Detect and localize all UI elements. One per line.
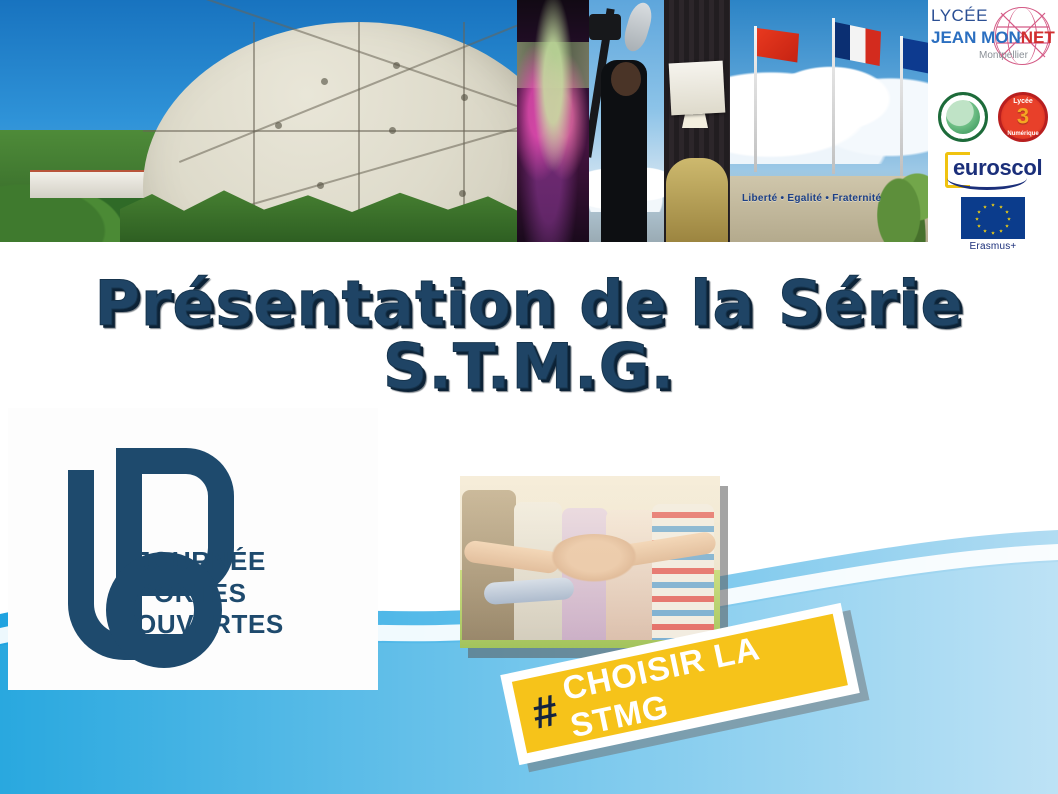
jpo-logo-card: JOURNÉE PORTES OUVERTES: [8, 408, 378, 690]
photo-students-hands-together: [460, 476, 720, 648]
page-title: Présentation de la Série S.T.M.G.: [0, 272, 1058, 398]
dance-stage-glow: [517, 0, 589, 242]
open-newspaper: [669, 61, 726, 116]
lycee-word: LYCÉE: [931, 6, 1055, 26]
logo-column: LYCÉE JEAN MONNET Montpellier Lycée 3 Nu…: [928, 0, 1058, 256]
eu-flag-icon: [961, 197, 1025, 239]
photo-warm-overlay: [460, 476, 720, 648]
numerique-bottom-label: Numérique: [1001, 131, 1045, 137]
draped-table: [666, 158, 728, 242]
photo-school-flags: Liberté • Egalité • Fraternité: [730, 0, 930, 242]
jpo-wordmark: JOURNÉE PORTES OUVERTES: [136, 546, 284, 641]
jpo-letter-j-stem: [68, 470, 94, 494]
jean-word: JEAN: [931, 28, 981, 47]
flags-bush: [874, 152, 930, 242]
montpellier-word: Montpellier: [979, 50, 1028, 61]
photo-student-camera: [589, 0, 664, 242]
euroscol-wave-icon: [947, 178, 1027, 190]
dome-background-building: [30, 170, 155, 198]
boom-microphone-icon: [621, 0, 656, 54]
eco-ecole-badge: [938, 92, 988, 142]
certification-badges: Lycée 3 Numérique: [938, 92, 1048, 142]
jpo-line-ouvertes: OUVERTES: [136, 609, 284, 641]
euroscol-logo: euroscol: [941, 150, 1045, 190]
camera-body: [589, 14, 621, 40]
erasmus-plus-logo: Erasmus+: [961, 197, 1025, 252]
numerique-level: 3: [1017, 103, 1029, 129]
photo-student-newspaper: [664, 0, 730, 242]
school-motto: Liberté • Egalité • Fraternité: [742, 193, 881, 204]
erasmus-label: Erasmus+: [961, 241, 1025, 252]
eco-ring: [940, 94, 986, 140]
lycee-jean-monnet-logo: LYCÉE JEAN MONNET Montpellier: [931, 6, 1055, 88]
title-line-2: S.T.M.G.: [0, 335, 1058, 398]
photo-geodesic-dome: [0, 0, 517, 242]
net-word: NET: [1021, 28, 1055, 47]
lycee-numerique-badge: Lycée 3 Numérique: [998, 92, 1048, 142]
jean-monnet-word: JEAN MONNET: [931, 28, 1055, 48]
jpo-line-journee: JOURNÉE: [136, 546, 284, 578]
title-line-1: Présentation de la Série: [94, 267, 963, 340]
photo-dance-performance: [517, 0, 589, 242]
jpo-line-portes: PORTES: [136, 578, 284, 610]
camera-operator-head: [611, 62, 641, 96]
presentation-slide: Liberté • Egalité • Fraternité LYCÉE JEA…: [0, 0, 1058, 794]
hashtag-icon: #: [529, 688, 562, 736]
header-photo-banner: Liberté • Egalité • Fraternité: [0, 0, 930, 242]
mon-word: MON: [981, 28, 1021, 47]
